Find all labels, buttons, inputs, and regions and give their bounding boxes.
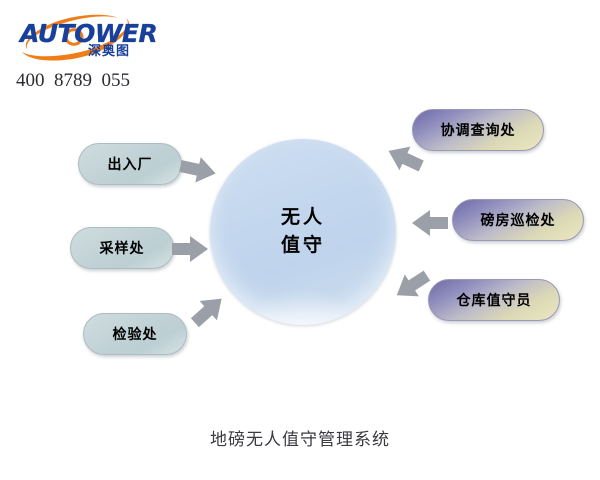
node-churuchang[interactable]: 出入厂 [78,143,182,185]
arrow-up-right-icon [186,287,232,333]
hub-circle: 无人 值守 [210,139,396,325]
arrow-left-icon [406,200,452,246]
arrow-up-left-icon [388,263,434,309]
node-bangfangxunjianchu-label: 磅房巡检处 [481,210,556,230]
diagram-canvas: 无人 值守 出入厂 采样处 检验处 协调查询处 磅房巡检处 仓库值守员 [0,95,600,415]
node-jianyanchu[interactable]: 检验处 [83,313,187,355]
arrow-right-icon [168,226,214,272]
node-xietiaochaxunchu-label: 协调查询处 [441,120,516,140]
node-xietiaochaxunchu[interactable]: 协调查询处 [412,109,544,151]
node-caiyangchu[interactable]: 采样处 [70,227,174,269]
phone-number: 400 8789 055 [16,70,130,92]
diagram-caption: 地磅无人值守管理系统 [0,425,600,450]
logo-wordmark: AUTOWER [20,21,157,46]
node-churuchang-label: 出入厂 [108,154,153,174]
logo-mark: AUTOWER 深奥图 [14,12,144,62]
node-cangkuzhishouyuan[interactable]: 仓库值守员 [428,279,560,321]
node-cangkuzhishouyuan-label: 仓库值守员 [457,290,532,310]
node-caiyangchu-label: 采样处 [100,238,145,258]
arrow-right-icon [176,147,222,193]
node-bangfangxunjianchu[interactable]: 磅房巡检处 [452,199,584,241]
node-jianyanchu-label: 检验处 [113,324,158,344]
arrow-down-left-icon [381,135,427,181]
brand-logo-block: AUTOWER 深奥图 400 8789 055 [14,12,194,92]
hub-label: 无人 值守 [210,139,396,325]
logo-chinese-name: 深奥图 [88,45,130,58]
hub-label-line2: 值守 [281,232,325,260]
hub-label-line1: 无人 [281,204,325,232]
